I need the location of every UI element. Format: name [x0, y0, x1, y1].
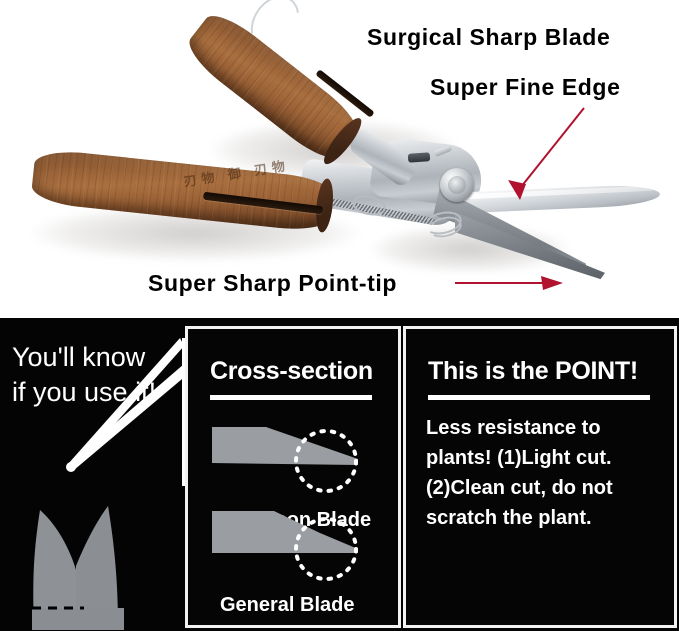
callout-lines [52, 336, 202, 496]
general-blade-diagram [208, 507, 378, 587]
point-panel-title: This is the POINT! [428, 357, 638, 386]
pivot-bolt-inner [448, 176, 466, 194]
product-photo-section: KBENISON 刃物 御 刃物 [0, 0, 679, 318]
comparison-section: You'll know if you use it! Cross-section… [0, 318, 679, 631]
point-panel-rule [428, 395, 650, 400]
cross-section-panel: Cross-section Kbenison Blade General Bla… [185, 326, 401, 628]
latch-hook [408, 152, 431, 163]
kbenison-blade-diagram [208, 421, 378, 501]
arrow-to-fine-edge [490, 104, 590, 209]
annotation-super-sharp-point-tip: Super Sharp Point-tip [148, 270, 397, 297]
arrow-to-point-tip [455, 272, 570, 294]
product-infographic: KBENISON 刃物 御 刃物 [0, 0, 679, 631]
cross-section-rule [210, 395, 372, 400]
annotation-surgical-sharp-blade: Surgical Sharp Blade [367, 24, 610, 51]
cross-section-title: Cross-section [210, 357, 373, 386]
annotation-super-fine-edge: Super Fine Edge [430, 74, 620, 101]
point-panel-body: Less resistance to plants! (1)Light cut.… [426, 413, 666, 533]
point-panel: This is the POINT! Less resistance to pl… [403, 326, 677, 628]
general-blade-label: General Blade [220, 594, 355, 617]
